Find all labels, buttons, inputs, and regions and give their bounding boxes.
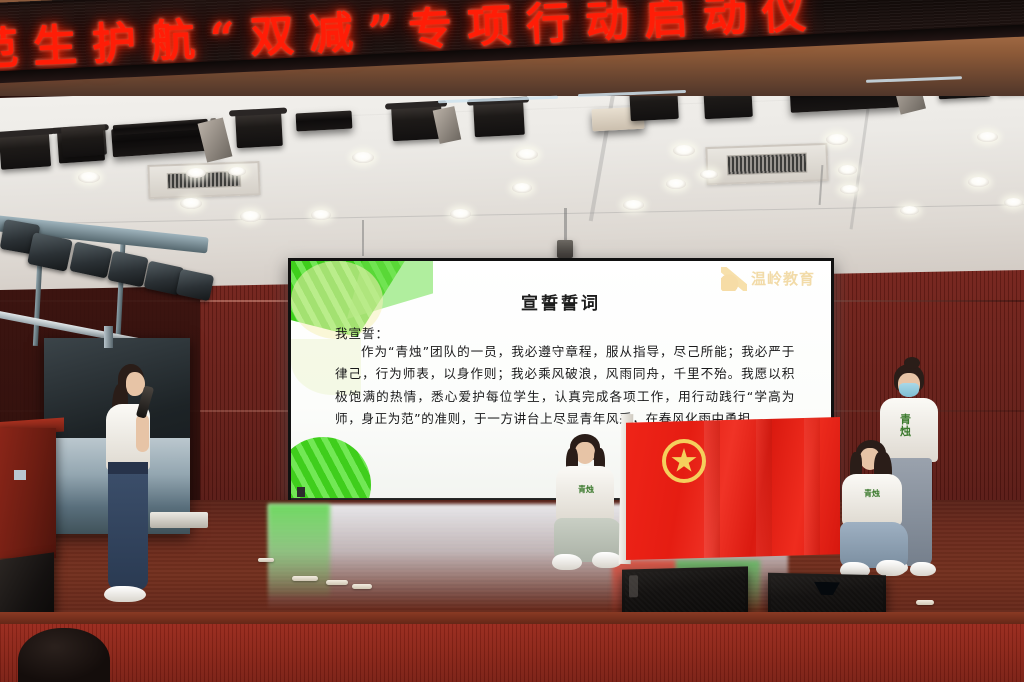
floor-debris-4 xyxy=(258,558,274,562)
floor-reflection-green xyxy=(268,504,330,596)
ac-vent-left xyxy=(147,161,260,199)
slide-lead-line: 我宣誓： xyxy=(335,323,389,342)
downlight-14 xyxy=(700,170,718,179)
person-flag-bearer-kneeling: 青烛 xyxy=(548,434,624,576)
audience-member-silhouette xyxy=(18,628,110,682)
lectern[interactable] xyxy=(0,428,56,558)
downlight-18 xyxy=(968,177,989,187)
stage-bar-light-2 xyxy=(296,111,353,132)
lectern-emblem xyxy=(14,470,26,480)
communist-youth-league-flag xyxy=(626,417,840,560)
downlight-1 xyxy=(78,172,100,183)
downlight-10 xyxy=(512,183,532,193)
downlight-8 xyxy=(450,209,471,219)
floor-debris-5 xyxy=(916,600,934,605)
downlight-16 xyxy=(838,165,857,175)
slide-logo-text: 温岭教育 xyxy=(751,272,815,286)
t-shirt-print: 青烛 xyxy=(864,490,880,498)
person-speaker-with-microphone xyxy=(96,362,166,620)
person-crouching: 青烛 xyxy=(838,440,912,586)
ac-vent-right xyxy=(705,143,828,185)
flag-fold-2 xyxy=(756,417,772,560)
sneaker xyxy=(104,586,146,602)
projector-mount xyxy=(557,240,573,258)
auditorium-stage-photo: 范生护航“双减”专项行动启动仪 温岭教育 宣誓誓词 我宣誓： 作为“青烛”团队的… xyxy=(0,0,1024,682)
downlight-9 xyxy=(516,149,538,160)
stage-apron xyxy=(0,624,1024,682)
t-shirt xyxy=(842,474,902,526)
downlight-3 xyxy=(186,168,206,178)
downlight-15 xyxy=(826,134,848,145)
stage-spotlight-4 xyxy=(235,112,283,148)
downlight-12 xyxy=(673,145,695,156)
hair-bun xyxy=(904,357,920,369)
stage-spotlight-3 xyxy=(61,125,107,158)
floor-debris-1 xyxy=(292,576,318,581)
t-shirt-print: 青烛 xyxy=(900,414,911,438)
slide-logo: 温岭教育 xyxy=(721,267,815,291)
waistband xyxy=(108,462,148,474)
flag-fold-3 xyxy=(804,417,820,560)
panel-support-post xyxy=(104,326,113,348)
downlight-17 xyxy=(840,185,859,194)
stage-spotlight-6 xyxy=(473,101,525,138)
sneaker-right xyxy=(592,552,622,568)
sneaker-right xyxy=(876,560,906,576)
youth-league-star-emblem-icon xyxy=(662,439,706,483)
flag-fold-1 xyxy=(704,417,720,560)
downlight-5 xyxy=(352,152,374,163)
downlight-4 xyxy=(240,211,261,222)
face-mask xyxy=(899,383,919,397)
floor-debris-2 xyxy=(326,580,348,585)
wenling-education-logo-icon xyxy=(721,267,747,291)
downlight-11 xyxy=(623,200,644,210)
downlight-13 xyxy=(666,179,686,189)
five-point-star-icon xyxy=(671,448,697,474)
downlight-7 xyxy=(228,167,246,176)
downlight-19 xyxy=(977,132,998,142)
sneaker-right xyxy=(910,562,936,576)
downlight-6 xyxy=(311,210,331,220)
slide-title: 宣誓誓词 xyxy=(291,289,831,314)
arm xyxy=(136,414,149,452)
t-shirt xyxy=(556,466,614,522)
stage-spotlight-1 xyxy=(0,132,51,169)
slide-body-text: 作为“青烛”团队的一员，我必遵守章程，服从指导，尽己所能；我必严于律己，行为师表… xyxy=(335,341,795,431)
downlight-20 xyxy=(900,206,919,215)
face xyxy=(575,442,595,464)
floor-debris-3 xyxy=(352,584,372,589)
t-shirt-print: 青烛 xyxy=(578,486,594,494)
screen-corner-marker xyxy=(297,487,305,497)
projector-drop-rod-left xyxy=(362,220,364,256)
jeans xyxy=(108,466,148,590)
sneaker-left xyxy=(552,554,582,570)
downlight-21 xyxy=(1004,198,1023,207)
downlight-2 xyxy=(180,198,202,209)
